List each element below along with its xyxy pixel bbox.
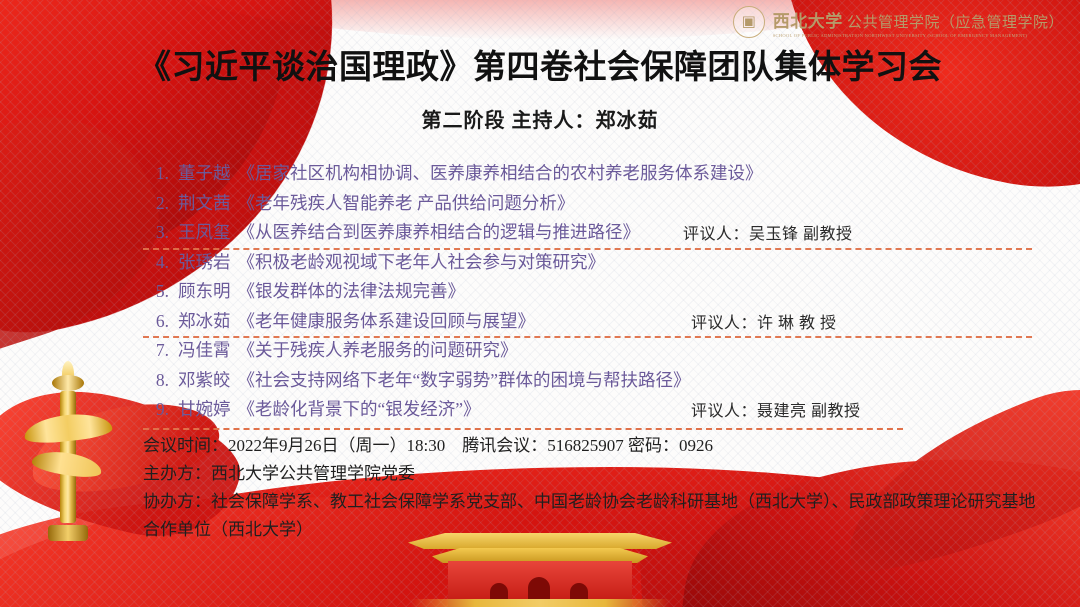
meeting-time-line: 会议时间：2022年9月26日（周一）18:30 腾讯会议：516825907 … (143, 432, 1050, 460)
gate-wall (448, 561, 632, 607)
list-item-speaker: 顾东明 (178, 278, 231, 303)
page-title: 《习近平谈治国理政》第四卷社会保障团队集体学习会 (0, 40, 1080, 88)
list-item-number: 6. (143, 311, 169, 332)
list-item-speaker: 荆文茜 (178, 190, 231, 215)
list-item-reviewer: 评议人：聂建亮 副教授 (691, 397, 861, 421)
list-item-topic: 《积极老龄观视域下老年人社会参与对策研究》 (238, 249, 606, 274)
presentation-list: 1. 董子越 《居家社区机构相协调、医养康养相结合的农村养老服务体系建设》 2.… (143, 160, 1040, 426)
info-divider (143, 428, 903, 430)
gate-arch-center (528, 577, 550, 607)
list-item: 8. 邓紫皎 《社会支持网络下老年“数字弱势”群体的困境与帮扶路径》 (143, 367, 1040, 397)
list-item: 6. 郑冰茹 《老年健康服务体系建设回顾与展望》 评议人：许 琳 教 授 (143, 308, 1040, 338)
list-item: 2. 荆文茜 《老年残疾人智能养老 产品供给问题分析》 (143, 190, 1040, 220)
list-item-topic: 《关于残疾人养老服务的问题研究》 (238, 337, 518, 362)
list-item-speaker: 甘婉婷 (178, 396, 231, 421)
coorganizer-line: 协办方：社会保障学系、教工社会保障学系党支部、中国老龄协会老龄科研基地（西北大学… (143, 488, 1050, 544)
huabiao-base (48, 525, 88, 541)
list-item-number: 8. (143, 370, 169, 391)
list-item: 5. 顾东明 《银发群体的法律法规完善》 (143, 278, 1040, 308)
huabiao-cloud-upper (23, 410, 113, 445)
list-item-topic: 《老龄化背景下的“银发经济”》 (238, 396, 481, 421)
password-label: 密码： (628, 436, 679, 455)
host-label: 主办方： (143, 464, 211, 483)
meeting-info: 会议时间：2022年9月26日（周一）18:30 腾讯会议：516825907 … (143, 432, 1050, 544)
gate-roof-lower (432, 548, 648, 563)
university-seal-icon: ▣ (733, 6, 765, 38)
list-item-speaker: 王凤玺 (178, 219, 231, 244)
list-item-speaker: 郑冰茹 (178, 308, 231, 333)
list-item-topic: 《居家社区机构相协调、医养康养相结合的农村养老服务体系建设》 (238, 160, 763, 185)
huabiao-shaft (60, 391, 76, 523)
list-item-speaker: 冯佳霄 (178, 337, 231, 362)
huabiao-column-icon (22, 367, 114, 547)
host-line: 主办方：西北大学公共管理学院党委 (143, 460, 1050, 488)
list-item-number: 5. (143, 281, 169, 302)
page-subtitle: 第二阶段 主持人：郑冰茹 (0, 104, 1080, 133)
gate-arch-right (570, 583, 588, 607)
presentation-slide: ▣ 西北大学 公共管理学院（应急管理学院） SCHOOL OF PUBLIC A… (0, 0, 1080, 607)
gate-plaza-base (410, 599, 670, 607)
huabiao-cloud-lower (31, 448, 104, 481)
gate-arch-left (490, 583, 508, 607)
university-logo-text: 西北大学 公共管理学院（应急管理学院） SCHOOL OF PUBLIC ADM… (773, 7, 1064, 38)
list-item-topic: 《老年健康服务体系建设回顾与展望》 (238, 308, 536, 333)
list-item-number: 4. (143, 252, 169, 273)
university-name: 西北大学 (773, 12, 843, 31)
meeting-time-value: 2022年9月26日（周一）18:30 (228, 436, 445, 455)
university-logo-chinese: 西北大学 公共管理学院（应急管理学院） (773, 7, 1064, 32)
list-item-speaker: 董子越 (178, 160, 231, 185)
huabiao-cap (52, 375, 84, 391)
university-logo: ▣ 西北大学 公共管理学院（应急管理学院） SCHOOL OF PUBLIC A… (733, 6, 1064, 38)
list-item: 3. 王凤玺 《从医养结合到医养康养相结合的逻辑与推进路径》 评议人：吴玉锋 副… (143, 219, 1040, 249)
list-item: 7. 冯佳霄 《关于残疾人养老服务的问题研究》 (143, 337, 1040, 367)
list-item-number: 3. (143, 222, 169, 243)
list-item-number: 1. (143, 163, 169, 184)
coorganizer-label: 协办方： (143, 492, 211, 511)
huabiao-flame (62, 361, 74, 381)
list-item-number: 2. (143, 193, 169, 214)
list-item-number: 9. (143, 399, 169, 420)
university-logo-english: SCHOOL OF PUBLIC ADMINISTRATION NORTHWES… (773, 33, 1064, 38)
list-item-reviewer: 评议人：吴玉锋 副教授 (683, 220, 853, 244)
list-item-topic: 《老年残疾人智能养老 产品供给问题分析》 (238, 190, 575, 215)
coorganizer-value: 社会保障学系、教工社会保障学系党支部、中国老龄协会老龄科研基地（西北大学）、民政… (143, 492, 1036, 539)
list-item: 9. 甘婉婷 《老龄化背景下的“银发经济”》 评议人：聂建亮 副教授 (143, 396, 1040, 426)
list-item-speaker: 张琇岩 (178, 249, 231, 274)
platform-value: 516825907 (547, 436, 624, 455)
list-item: 1. 董子越 《居家社区机构相协调、医养康养相结合的农村养老服务体系建设》 (143, 160, 1040, 190)
list-item-reviewer: 评议人：许 琳 教 授 (691, 309, 837, 333)
list-item-number: 7. (143, 340, 169, 361)
list-item-speaker: 邓紫皎 (178, 367, 231, 392)
meeting-time-label: 会议时间： (143, 436, 228, 455)
host-value: 西北大学公共管理学院党委 (211, 464, 415, 483)
password-value: 0926 (679, 436, 713, 455)
list-item-topic: 《银发群体的法律法规完善》 (238, 278, 466, 303)
list-item-topic: 《社会支持网络下老年“数字弱势”群体的困境与帮扶路径》 (238, 367, 691, 392)
list-item-topic: 《从医养结合到医养康养相结合的逻辑与推进路径》 (238, 219, 641, 244)
list-item: 4. 张琇岩 《积极老龄观视域下老年人社会参与对策研究》 (143, 249, 1040, 279)
platform-label: 腾讯会议： (462, 436, 547, 455)
school-name: 公共管理学院（应急管理学院） (847, 15, 1064, 31)
